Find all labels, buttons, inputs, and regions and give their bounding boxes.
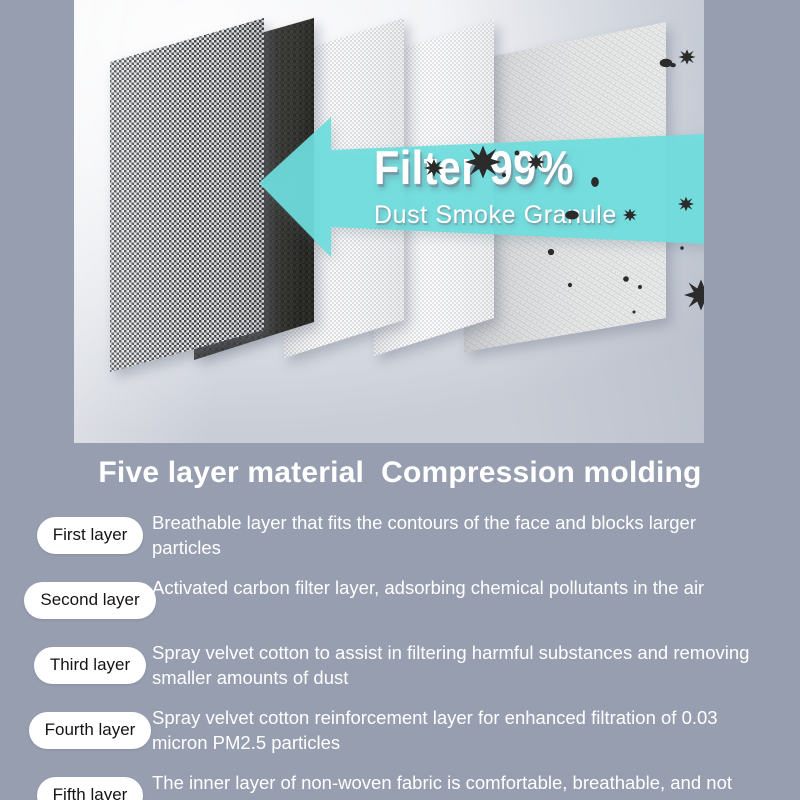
pill-wrap-fourth: Fourth layer [0, 703, 152, 749]
hero-photo-panel: Filter 99% Dust Smoke Granule [74, 0, 704, 443]
layer-description-fourth: Spray velvet cotton reinforcement layer … [152, 703, 768, 755]
pill-wrap-second: Second layer [0, 573, 152, 619]
layer-row-third: Third layer Spray velvet cotton to assis… [0, 638, 800, 693]
layer-row-fourth: Fourth layer Spray velvet cotton reinfor… [0, 703, 800, 758]
filter-direction-arrow-icon [259, 95, 704, 270]
pill-wrap-third: Third layer [0, 638, 152, 684]
layer-row-fifth: Fifth layer The inner layer of non-woven… [0, 768, 800, 800]
layer-description-fifth: The inner layer of non-woven fabric is c… [152, 768, 768, 800]
layer-badge-fourth: Fourth layer [29, 712, 152, 749]
layer-badge-third: Third layer [34, 647, 146, 684]
layer-row-second: Second layer Activated carbon filter lay… [0, 573, 800, 628]
layer-description-second: Activated carbon filter layer, adsorbing… [152, 573, 768, 600]
layer-description-first: Breathable layer that fits the contours … [152, 508, 768, 560]
layer-row-first: First layer Breathable layer that fits t… [0, 508, 800, 563]
layer-badge-first: First layer [37, 517, 144, 554]
layer-badge-fifth: Fifth layer [37, 777, 144, 800]
layer-badge-second: Second layer [24, 582, 155, 619]
infographic-page: Filter 99% Dust Smoke Granule [0, 0, 800, 800]
pill-wrap-first: First layer [0, 508, 152, 554]
layer-list: First layer Breathable layer that fits t… [0, 508, 800, 800]
page-title: Five layer material Compression molding [0, 455, 800, 491]
pill-wrap-fifth: Fifth layer [0, 768, 152, 800]
layer-description-third: Spray velvet cotton to assist in filteri… [152, 638, 768, 690]
